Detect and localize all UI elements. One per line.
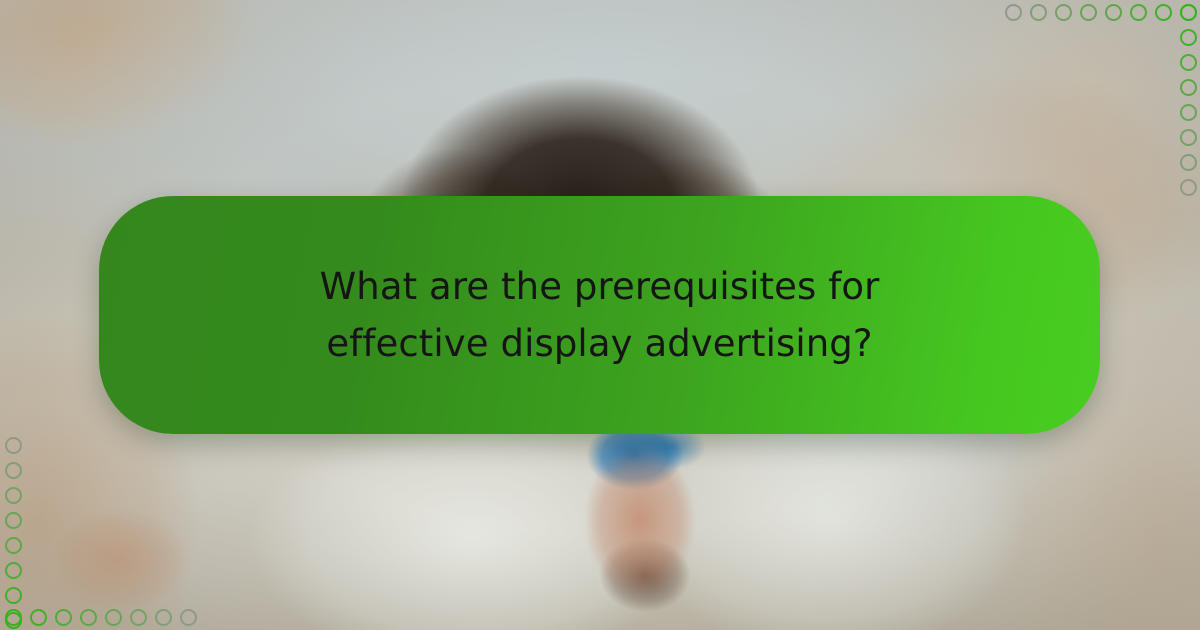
decorative-dot: [5, 609, 22, 626]
decorative-dot: [1130, 4, 1147, 21]
decorative-dot: [1180, 154, 1197, 171]
decorative-dot: [5, 512, 22, 529]
decorative-dot: [5, 587, 22, 604]
decorative-dot: [1030, 4, 1047, 21]
decorative-dot: [155, 609, 172, 626]
question-card: What are the prerequisites for effective…: [99, 196, 1100, 434]
decorative-dot: [1180, 129, 1197, 146]
decorative-dot: [5, 462, 22, 479]
decorative-dot: [5, 562, 22, 579]
decorative-dot: [105, 609, 122, 626]
decorative-dot: [1105, 4, 1122, 21]
decorative-dot: [30, 609, 47, 626]
decorative-dot: [1180, 104, 1197, 121]
decorative-dot: [1180, 79, 1197, 96]
decorative-dot: [55, 609, 72, 626]
decorative-dot: [1180, 4, 1197, 21]
screenshot-canvas: What are the prerequisites for effective…: [0, 0, 1200, 630]
decorative-dot: [5, 437, 22, 454]
question-text: What are the prerequisites for effective…: [250, 258, 950, 372]
decorative-dot: [1180, 29, 1197, 46]
decorative-dot: [1155, 4, 1172, 21]
decorative-dot: [1080, 4, 1097, 21]
decorative-dot: [80, 609, 97, 626]
decorative-dot: [1055, 4, 1072, 21]
decorative-dot: [5, 537, 22, 554]
decorative-dot: [5, 487, 22, 504]
decorative-dot: [1180, 179, 1197, 196]
decorative-dot: [1005, 4, 1022, 21]
decorative-dot: [130, 609, 147, 626]
decorative-dot: [1180, 54, 1197, 71]
decorative-dot: [180, 609, 197, 626]
